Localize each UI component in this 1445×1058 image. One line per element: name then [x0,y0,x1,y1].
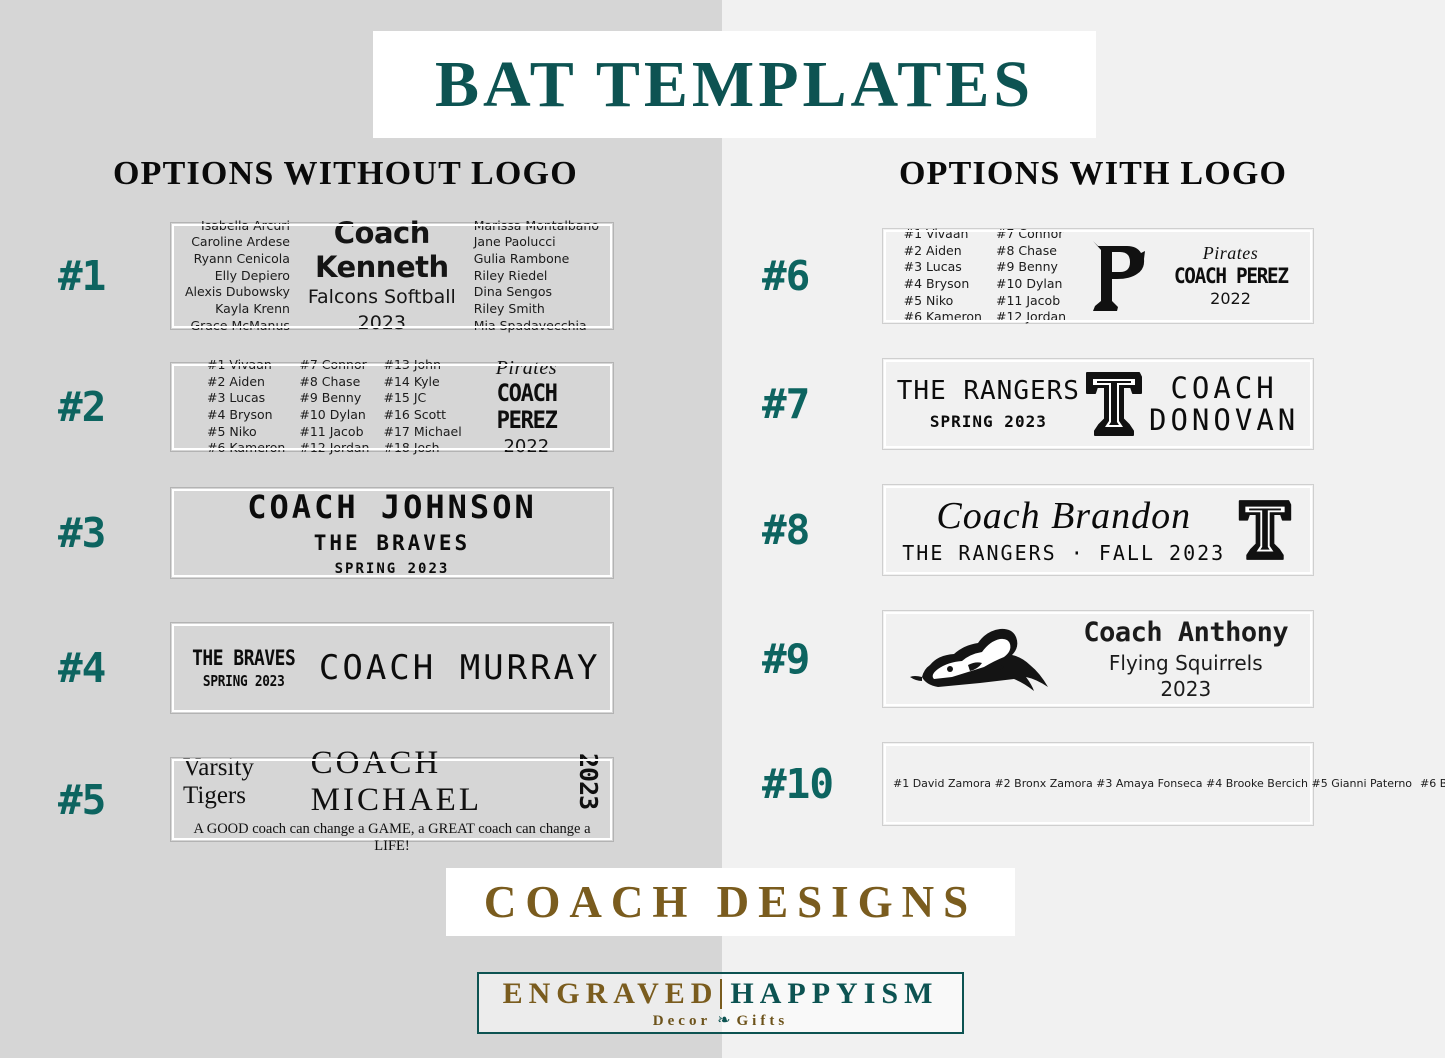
template-card-2[interactable]: #1 Vivaan #2 Aiden #3 Lucas #4 Bryson #5… [170,362,614,452]
roster-column-1: #1 David Zamora #2 Bronx Zamora #3 Amaya… [893,777,1412,792]
footer-logo-top-row: ENGRAVED HAPPYISM [503,977,939,1011]
coach-name: Coach Kenneth [290,217,474,284]
coach-block-8: Coach Brandon THE RANGERS · FALL 2023 [902,495,1225,566]
roster-columns-6: #1 Vivaan #2 Aiden #3 Lucas #4 Bryson #5… [904,226,1066,326]
template-card-1[interactable]: Isabella Arcuri Caroline Ardese Ryann Ce… [170,222,614,330]
footer-happyism: HAPPYISM [730,977,938,1011]
section-header-without-logo: OPTIONS WITHOUT LOGO [113,155,578,193]
coach-block-6: Pirates COACH PEREZ 2022 [1169,243,1293,308]
template-row-7[interactable]: #7 THE RANGERS SPRING 2023 COACH DONOVAN [762,358,1314,450]
team-name: Varsity Tigers [183,754,299,810]
footer-gifts: Gifts [737,1013,789,1030]
team-block-4: THE BRAVES SPRING 2023 [183,646,304,690]
season: SPRING 2023 [247,561,536,577]
template-number-6: #6 [762,252,882,300]
footer-divider [720,979,722,1009]
roster-columns-10: #1 David Zamora #2 Bronx Zamora #3 Amaya… [893,777,1445,792]
template-card-10[interactable]: #1 David Zamora #2 Bronx Zamora #3 Amaya… [882,742,1314,826]
template-number-1: #1 [58,252,170,300]
season: SPRING 2023 [897,413,1080,431]
roster-column-2: #7 Connor #8 Chase #9 Benny #10 Dylan #1… [299,357,369,457]
year: 2022 [1169,290,1293,308]
team-name: Falcons Softball [290,287,474,309]
team-block-7: THE RANGERS SPRING 2023 [897,377,1080,431]
template-row-2[interactable]: #2 #1 Vivaan #2 Aiden #3 Lucas #4 Bryson… [58,362,614,452]
template-number-3: #3 [58,509,170,557]
roster-column-2: #6 Brady Bercich #7 Allie Harris #8 Joey… [1420,777,1445,792]
coach-name-line2: DONOVAN [1149,404,1299,436]
template-card-8[interactable]: Coach Brandon THE RANGERS · FALL 2023 [882,484,1314,576]
flying-squirrel-logo [908,621,1058,697]
template-number-2: #2 [58,383,170,431]
template-number-9: #9 [762,635,882,683]
leaf-icon: ❧ [717,1013,730,1029]
coach-name-line1: COACH [1149,372,1299,404]
coach-name: Coach Anthony [1083,617,1288,648]
roster-columns-2: #1 Vivaan #2 Aiden #3 Lucas #4 Bryson #5… [207,357,462,457]
footer-engraved: ENGRAVED [503,977,719,1011]
template-card-9[interactable]: Coach Anthony Flying Squirrels 2023 [882,610,1314,708]
year: 2022 [462,437,591,458]
template-row-8[interactable]: #8 Coach Brandon THE RANGERS · FALL 2023 [762,484,1314,576]
team-name: THE RANGERS [897,377,1080,407]
template-number-5: #5 [58,776,170,824]
roster-column-2: #7 Connor #8 Chase #9 Benny #10 Dylan #1… [996,226,1066,326]
coach-block-3: COACH JOHNSON THE BRAVES SPRING 2023 [247,489,536,577]
page-title-band: BAT TEMPLATES [373,31,1096,138]
roster-column-1: #1 Vivaan #2 Aiden #3 Lucas #4 Bryson #5… [207,357,285,457]
template-row-10[interactable]: #10 #1 David Zamora #2 Bronx Zamora #3 A… [762,742,1314,826]
template-card-3[interactable]: COACH JOHNSON THE BRAVES SPRING 2023 [170,487,614,579]
roster-column-right: Marissa Montalbano Jane Paolucci Gulia R… [474,218,599,334]
team-name: THE BRAVES [247,531,536,555]
subtitle: THE RANGERS · FALL 2023 [902,542,1225,565]
template-number-8: #8 [762,506,882,554]
bottom-brand-band: COACH DESIGNS [446,868,1015,936]
template-row-5[interactable]: #5 Varsity Tigers COACH MICHAEL 2023 A G… [58,757,614,842]
template-row-9[interactable]: #9 Coach Anthony Flying Squirrels 2023 [762,610,1314,708]
template-card-4[interactable]: THE BRAVES SPRING 2023 COACH MURRAY [170,622,614,714]
template-row-6[interactable]: #6 #1 Vivaan #2 Aiden #3 Lucas #4 Bryson… [762,228,1314,324]
template-card-5[interactable]: Varsity Tigers COACH MICHAEL 2023 A GOOD… [170,757,614,842]
template-number-4: #4 [58,644,170,692]
coach-name: COACH JOHNSON [247,489,536,526]
year: 2023 [1083,678,1288,701]
footer-logo-bottom-row: Decor ❧ Gifts [653,1013,788,1030]
team-name: Pirates [462,357,591,380]
roster-column-3: #13 John #14 Kyle #15 JC #16 Scott #17 M… [383,357,461,457]
year: 2023 [290,313,474,335]
template-card-7[interactable]: THE RANGERS SPRING 2023 COACH DONOVAN [882,358,1314,450]
coach-block-7: COACH DONOVAN [1149,372,1299,437]
coach-name: Coach Brandon [902,495,1225,539]
coach-line-5: Varsity Tigers COACH MICHAEL 2023 [183,745,601,819]
template-card-6[interactable]: #1 Vivaan #2 Aiden #3 Lucas #4 Bryson #5… [882,228,1314,324]
quote: A GOOD coach can change a GAME, a GREAT … [183,821,601,855]
year-vertical: 2023 [576,753,601,809]
coach-block-1: Coach Kenneth Falcons Softball 2023 [290,217,474,334]
rangers-t-logo [1236,497,1294,563]
page-title: BAT TEMPLATES [435,52,1034,118]
roster-column-1: #1 Vivaan #2 Aiden #3 Lucas #4 Bryson #5… [904,226,982,326]
template-row-4[interactable]: #4 THE BRAVES SPRING 2023 COACH MURRAY [58,622,614,714]
coach-block-9: Coach Anthony Flying Squirrels 2023 [1083,617,1288,701]
template-number-10: #10 [762,760,882,808]
template-row-1[interactable]: #1 Isabella Arcuri Caroline Ardese Ryann… [58,222,614,330]
pirates-p-logo [1087,239,1147,313]
season: SPRING 2023 [193,672,296,690]
coach-name: COACH PEREZ [1174,264,1288,288]
team-name: Flying Squirrels [1083,652,1288,675]
roster-column-left: Isabella Arcuri Caroline Ardese Ryann Ce… [185,218,290,334]
coach-block-2: Pirates COACH PEREZ 2022 [462,357,591,458]
template-row-3[interactable]: #3 COACH JOHNSON THE BRAVES SPRING 2023 [58,487,614,579]
team-name: THE BRAVES [193,646,296,670]
coach-name: COACH MICHAEL [311,745,570,819]
footer-decor: Decor [653,1013,711,1030]
rangers-t-logo [1083,369,1145,439]
section-header-with-logo: OPTIONS WITH LOGO [899,155,1287,193]
team-name: Pirates [1169,243,1293,264]
template-number-7: #7 [762,380,882,428]
footer-logo: ENGRAVED HAPPYISM Decor ❧ Gifts [477,972,964,1034]
bottom-brand-text: COACH DESIGNS [484,876,977,928]
coach-name: COACH PEREZ [467,380,586,435]
coach-name: COACH MURRAY [319,648,601,688]
